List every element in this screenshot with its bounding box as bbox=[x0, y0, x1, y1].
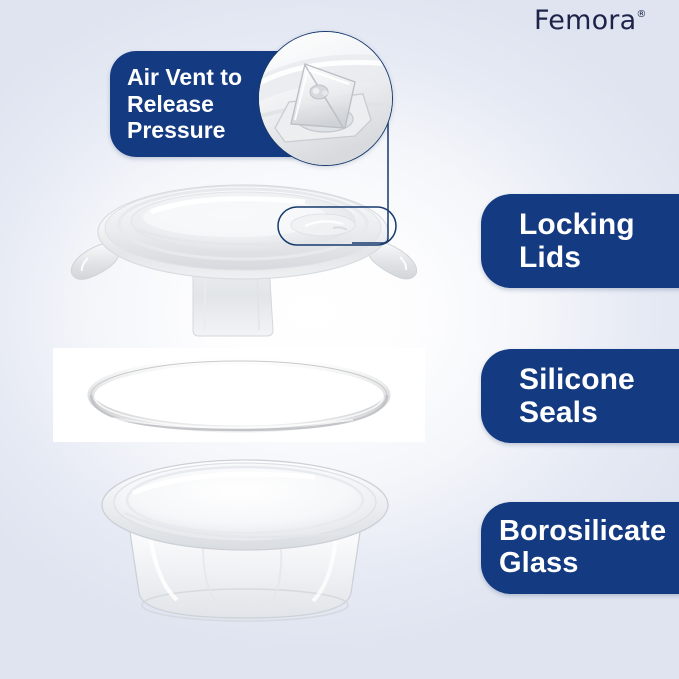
feature-label-silicone-seals: Silicone Seals bbox=[481, 349, 679, 443]
feature-label-line-2: Lids bbox=[519, 241, 679, 274]
product-feature-infographic: Femora® bbox=[0, 0, 679, 679]
silicone-seal-image bbox=[53, 348, 425, 442]
locking-lid-image bbox=[55, 170, 435, 345]
brand-name: Femora bbox=[534, 5, 636, 36]
feature-label-locking-lids: Locking Lids bbox=[481, 194, 679, 288]
feature-label-line-1: Borosilicate bbox=[499, 516, 679, 548]
air-vent-inset-circle bbox=[258, 31, 393, 166]
feature-label-line-1: Locking bbox=[519, 208, 679, 241]
feature-label-line-2: Glass bbox=[499, 548, 679, 580]
borosilicate-glass-bowl-image bbox=[85, 455, 405, 630]
brand-logo: Femora® bbox=[534, 5, 647, 36]
air-vent-magnified-detail-icon bbox=[259, 32, 392, 165]
feature-label-line-1: Silicone bbox=[519, 363, 679, 396]
registered-trademark-icon: ® bbox=[636, 9, 646, 20]
feature-label-borosilicate-glass: Borosilicate Glass bbox=[481, 502, 679, 594]
feature-label-line-2: Seals bbox=[519, 396, 679, 429]
